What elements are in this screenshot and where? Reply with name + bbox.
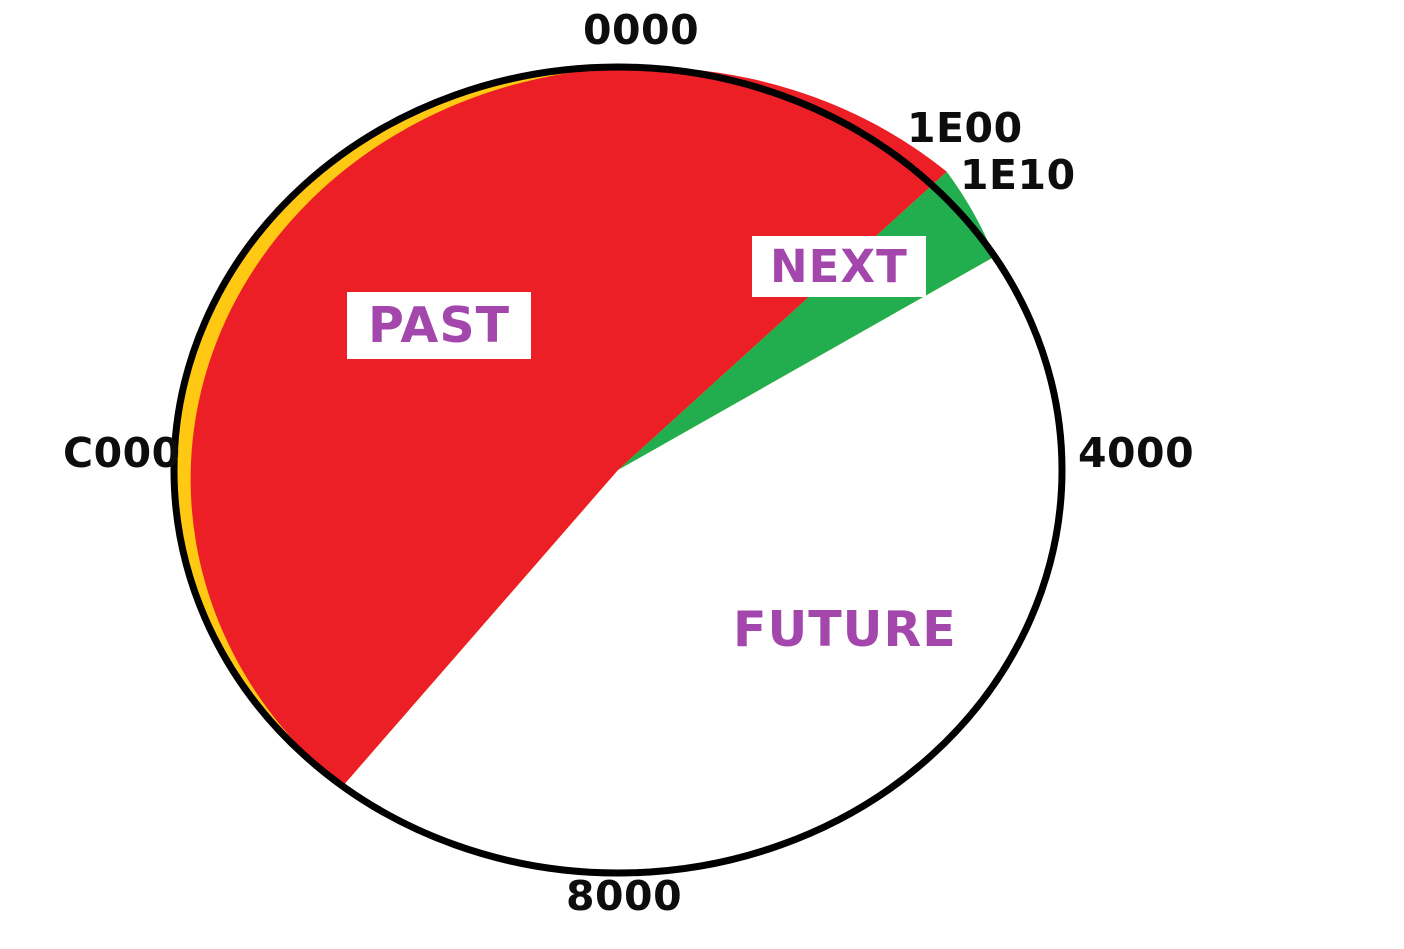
slice-label-next: NEXT [752, 236, 926, 297]
tick-label-c000: C000 [63, 433, 181, 474]
slice-past[interactable] [191, 67, 947, 786]
tick-label-1e10: 1E10 [960, 155, 1076, 196]
tick-label-4000: 4000 [1078, 433, 1194, 474]
slice-label-past: PAST [347, 292, 531, 359]
diagram-canvas: 0000 1E00 1E10 4000 8000 C000 PAST NEXT … [0, 0, 1404, 949]
slice-label-future: FUTURE [712, 596, 978, 663]
tick-label-1e00: 1E00 [907, 108, 1023, 149]
tick-label-0000: 0000 [583, 10, 699, 51]
tick-label-8000: 8000 [566, 876, 682, 917]
